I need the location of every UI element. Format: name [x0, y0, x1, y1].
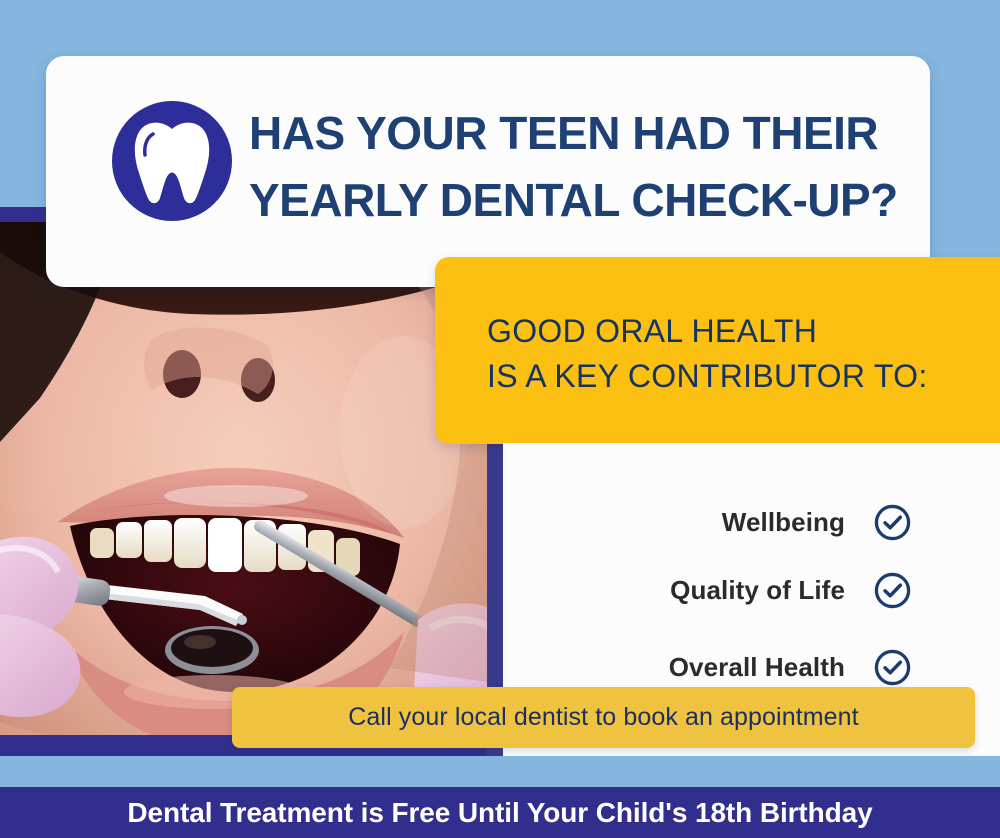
check-circle-icon	[873, 571, 912, 610]
check-circle-icon-svg	[873, 503, 912, 542]
check-circle-icon	[873, 503, 912, 542]
list-item: Quality of Life	[492, 571, 912, 610]
page-title: HAS YOUR TEEN HAD THEIR YEARLY DENTAL CH…	[249, 100, 930, 234]
check-circle-icon	[873, 648, 912, 687]
footer-text: Dental Treatment is Free Until Your Chil…	[127, 797, 872, 829]
check-circle-icon-svg	[873, 648, 912, 687]
key-contributor-text: GOOD ORAL HEALTH IS A KEY CONTRIBUTOR TO…	[487, 309, 928, 400]
call-to-action-text: Call your local dentist to book an appoi…	[348, 703, 858, 732]
checklist-label-quality-of-life: Quality of Life	[670, 575, 845, 606]
photo-illustration	[0, 222, 487, 735]
dental-examination-photo	[0, 222, 487, 735]
headline-line-2: YEARLY DENTAL CHECK-UP?	[249, 167, 930, 234]
checklist-label-wellbeing: Wellbeing	[722, 507, 845, 538]
tooth-icon-svg	[112, 101, 232, 221]
footer-bar: Dental Treatment is Free Until Your Chil…	[0, 787, 1000, 838]
headline-line-1: HAS YOUR TEEN HAD THEIR	[249, 100, 930, 167]
call-to-action-banner: Call your local dentist to book an appoi…	[232, 687, 975, 748]
list-item: Wellbeing	[492, 503, 912, 542]
check-circle-icon-svg	[873, 571, 912, 610]
banner-line-2: IS A KEY CONTRIBUTOR TO:	[487, 354, 928, 399]
list-item: Overall Health	[492, 648, 912, 687]
dental-checkup-poster: HAS YOUR TEEN HAD THEIR YEARLY DENTAL CH…	[0, 0, 1000, 838]
checklist-label-overall-health: Overall Health	[669, 652, 845, 683]
tooth-icon	[112, 101, 232, 221]
header-card: HAS YOUR TEEN HAD THEIR YEARLY DENTAL CH…	[46, 56, 930, 287]
key-contributor-banner: GOOD ORAL HEALTH IS A KEY CONTRIBUTOR TO…	[435, 257, 1000, 444]
banner-line-1: GOOD ORAL HEALTH	[487, 309, 928, 354]
